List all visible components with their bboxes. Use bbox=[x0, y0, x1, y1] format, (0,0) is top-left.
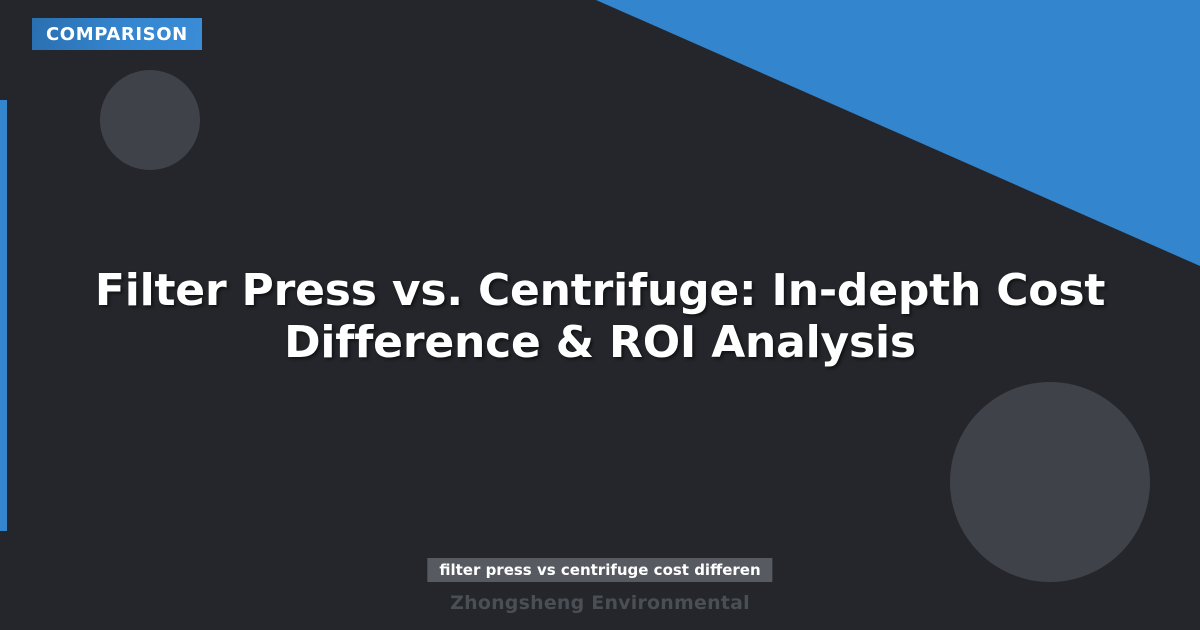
brand-footer: Zhongsheng Environmental bbox=[0, 592, 1200, 614]
keyword-chip: filter press vs centrifuge cost differen bbox=[427, 558, 772, 582]
card-content: COMPARISON Filter Press vs. Centrifuge: … bbox=[0, 0, 1200, 630]
page-title: Filter Press vs. Centrifuge: In-depth Co… bbox=[0, 265, 1200, 369]
social-share-card: COMPARISON Filter Press vs. Centrifuge: … bbox=[0, 0, 1200, 630]
category-badge: COMPARISON bbox=[32, 18, 202, 50]
keyword-chip-label: filter press vs centrifuge cost differen bbox=[439, 561, 760, 579]
category-badge-label: COMPARISON bbox=[46, 24, 188, 45]
